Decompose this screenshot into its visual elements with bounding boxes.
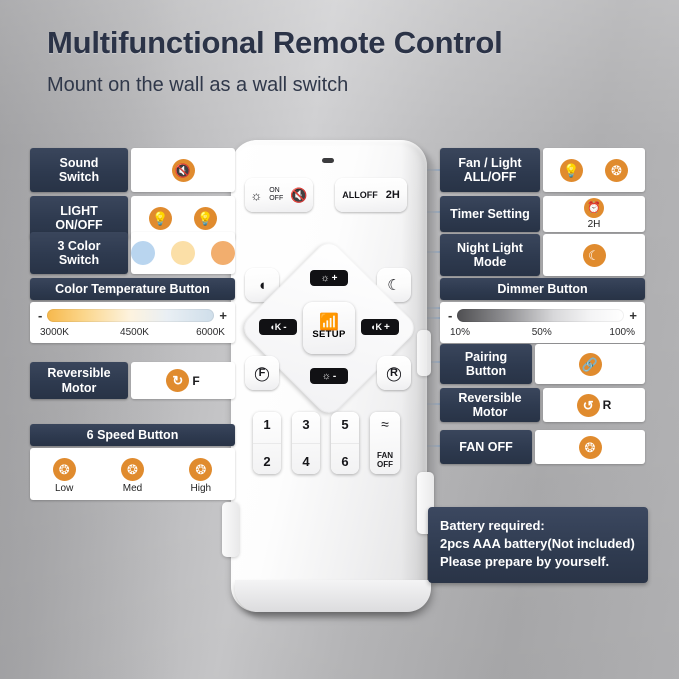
fan-off-icon-box: ❂ xyxy=(535,430,645,464)
speed-4-label: 4 xyxy=(302,454,309,469)
minus-label: - xyxy=(333,371,336,382)
fan-high-icon: ❂ xyxy=(189,458,212,481)
motor-forward-group: ↻ F xyxy=(166,369,199,392)
label-line-1: Fan / Light xyxy=(458,156,521,170)
tick-4500k: 4500K xyxy=(120,327,149,338)
dimmer-gradient-bar[interactable] xyxy=(457,309,624,322)
rocker-divider xyxy=(253,443,281,444)
callout-reversible-motor-forward: Reversible Motor ↻ F xyxy=(30,362,235,399)
remote-key-colortemp-down[interactable]: ◖K - xyxy=(259,319,297,335)
label-line-1: Pairing xyxy=(465,350,507,364)
page-heading: Multifunctional Remote Control Mount on … xyxy=(47,25,647,97)
color-swatch-neutral xyxy=(171,241,195,265)
remote-key-setup-pairing[interactable]: 📶 SETUP xyxy=(303,302,355,354)
reversible-motor-reverse-icon-box: ↺ R xyxy=(543,388,645,422)
tick-6000k: 6000K xyxy=(196,327,225,338)
tick-50-percent: 50% xyxy=(532,327,552,338)
speed-step-med[interactable]: ❂ Med xyxy=(121,458,144,494)
fan-light-all-off-label: Fan / Light ALL/OFF xyxy=(440,148,540,192)
label-line-1: LIGHT xyxy=(60,204,98,218)
on-label: ON xyxy=(269,187,280,194)
battery-note-line-2: 2pcs AAA battery(Not included) xyxy=(440,535,636,553)
remote-key-speed-5-6[interactable]: 5 6 xyxy=(331,412,359,474)
label-line-1: Sound xyxy=(60,156,99,170)
color-swatch-warm xyxy=(211,241,235,265)
tick-3000k: 3000K xyxy=(40,327,69,338)
callout-timer-setting: Timer Setting ⏰ 2H xyxy=(440,196,645,232)
reversible-motor-reverse-label: Reversible Motor xyxy=(440,388,540,422)
speed-step-high[interactable]: ❂ High xyxy=(189,458,212,494)
setup-label: SETUP xyxy=(312,329,345,340)
timer-2h-label: 2H xyxy=(386,189,400,201)
remote-key-brightness-down[interactable]: ☼ - xyxy=(310,368,348,384)
motor-reverse-icon: ↺ xyxy=(577,394,600,417)
kelvin-icon: ◖ xyxy=(257,277,266,294)
minus-sign: - xyxy=(448,308,452,323)
color-temperature-ticks: 3000K 4500K 6000K xyxy=(30,326,235,343)
color-temperature-slider[interactable]: - + xyxy=(30,302,235,326)
fan-off-label: FAN OFF xyxy=(440,430,532,464)
reversible-motor-forward-icon-box: ↻ F xyxy=(131,362,235,399)
wifi-icon: 📶 xyxy=(319,316,339,329)
speed-icon-row: ❂ Low ❂ Med ❂ High xyxy=(30,453,235,496)
timer-setting-value: ⏰ 2H xyxy=(543,196,645,232)
label-line-1: Night Light xyxy=(457,241,523,255)
night-light-mode-icon-box: ☾ xyxy=(543,234,645,276)
label-line-2: Mode xyxy=(474,255,507,269)
six-speed-title: 6 Speed Button xyxy=(30,424,235,446)
sound-switch-icons: 🔇 xyxy=(131,148,235,192)
callout-6-speed-button: 6 Speed Button ❂ Low ❂ Med ❂ High xyxy=(30,424,235,500)
sun-icon: ☼ xyxy=(322,371,331,382)
plus-label: + xyxy=(332,273,338,284)
remote-control-device: ☼ ON OFF 🔇 ALLOFF 2H ◖ ☾ ☼ + ☼ - ◖K - ◖K… xyxy=(231,140,437,620)
three-color-switch-label: 3 Color Switch xyxy=(30,232,128,274)
plus-sign: + xyxy=(629,308,637,323)
color-swatch-cool xyxy=(131,241,155,265)
dimmer-scale: - + 10% 50% 100% xyxy=(440,302,645,343)
label-line-2: Switch xyxy=(59,253,99,267)
reverse-letter: R xyxy=(603,398,612,412)
sun-icon: ☼ xyxy=(250,188,262,203)
dimmer-slider[interactable]: - + xyxy=(440,302,645,326)
plus-sign: + xyxy=(219,308,227,323)
callout-pairing-button: Pairing Button 🔗 xyxy=(440,344,645,384)
remote-key-colortemp-up[interactable]: ◖K + xyxy=(361,319,399,335)
kelvin-icon: ◖K xyxy=(370,322,382,332)
link-icon: 🔗 xyxy=(579,353,602,376)
battery-note-line-1: Battery required: xyxy=(440,517,636,535)
label-line-2: ON/OFF xyxy=(55,218,102,232)
speed-low-caption: Low xyxy=(55,483,73,494)
speed-5-label: 5 xyxy=(341,417,348,432)
fan-off-icon: ❂ xyxy=(605,159,628,182)
dimmer-title: Dimmer Button xyxy=(440,278,645,300)
remote-base-lip xyxy=(235,580,431,612)
callout-color-temperature: Color Temperature Button - + 3000K 4500K… xyxy=(30,278,235,343)
kelvin-icon: ◖K xyxy=(269,322,281,332)
rocker-divider xyxy=(292,443,320,444)
reverse-letter: R xyxy=(390,367,398,379)
off-label: OFF xyxy=(269,195,283,202)
remote-key-alloff-timer[interactable]: ALLOFF 2H xyxy=(335,178,407,212)
off-label: OFF xyxy=(377,460,393,469)
color-temperature-gradient-bar[interactable] xyxy=(47,309,214,322)
ir-emitter-icon xyxy=(322,158,334,163)
remote-side-tab-left xyxy=(222,502,239,557)
three-color-swatches xyxy=(131,232,235,274)
speed-step-low[interactable]: ❂ Low xyxy=(53,458,76,494)
callout-night-light-mode: Night Light Mode ☾ xyxy=(440,234,645,276)
callout-reversible-motor-reverse: Reversible Motor ↺ R xyxy=(440,388,645,422)
speed-1-label: 1 xyxy=(263,417,270,432)
moon-star-icon: ☾ xyxy=(387,276,400,294)
sound-off-icon: 🔇 xyxy=(172,159,195,182)
night-light-mode-label: Night Light Mode xyxy=(440,234,540,276)
fan-light-all-off-icons: 💡 ❂ xyxy=(543,148,645,192)
plus-label: + xyxy=(384,322,390,333)
page-subtitle: Mount on the wall as a wall switch xyxy=(47,74,647,97)
speed-high-caption: High xyxy=(191,483,212,494)
speed-3-label: 3 xyxy=(302,417,309,432)
label-line-2: Button xyxy=(466,364,506,378)
fan-med-icon: ❂ xyxy=(121,458,144,481)
remote-key-speed-3-4[interactable]: 3 4 xyxy=(292,412,320,474)
rocker-divider xyxy=(331,443,359,444)
fan-off-label: FAN OFF xyxy=(377,451,393,469)
label-line-2: Switch xyxy=(59,170,99,184)
minus-label: - xyxy=(283,322,286,333)
battery-requirement-note: Battery required: 2pcs AAA battery(Not i… xyxy=(428,507,648,583)
fan-label: FAN xyxy=(377,451,393,460)
callout-fan-light-all-off: Fan / Light ALL/OFF 💡 ❂ xyxy=(440,148,645,192)
remote-key-fan-off[interactable]: ≈ FAN OFF xyxy=(370,412,400,474)
fan-low-icon: ❂ xyxy=(53,458,76,481)
speed-med-caption: Med xyxy=(123,483,142,494)
airflow-icon: ≈ xyxy=(381,418,389,430)
callout-3-color-switch: 3 Color Switch xyxy=(30,232,235,274)
all-off-label: ALLOFF xyxy=(342,190,378,200)
reversible-motor-forward-label: Reversible Motor xyxy=(30,362,128,399)
fan-off-icon: ❂ xyxy=(579,436,602,459)
remote-key-light-onoff-mute[interactable]: ☼ ON OFF 🔇 xyxy=(245,178,313,212)
callout-fan-off: FAN OFF ❂ xyxy=(440,430,645,464)
light-off-icon: 💡 xyxy=(194,207,217,230)
remote-side-tab-right-upper xyxy=(417,330,431,376)
color-temperature-scale: - + 3000K 4500K 6000K xyxy=(30,302,235,343)
speed-2-label: 2 xyxy=(263,454,270,469)
on-off-label: ON OFF xyxy=(269,187,283,203)
remote-key-motor-reverse[interactable]: ◯ R xyxy=(377,356,411,390)
mute-icon: 🔇 xyxy=(290,187,307,204)
timer-2h-label: 2H xyxy=(588,219,601,230)
forward-letter: F xyxy=(259,367,266,379)
callout-dimmer-button: Dimmer Button - + 10% 50% 100% xyxy=(440,278,645,343)
motor-forward-icon: ↻ xyxy=(166,369,189,392)
minus-sign: - xyxy=(38,308,42,323)
remote-key-brightness-up[interactable]: ☼ + xyxy=(310,270,348,286)
remote-key-speed-1-2[interactable]: 1 2 xyxy=(253,412,281,474)
pairing-button-icon-box: 🔗 xyxy=(535,344,645,384)
sound-switch-label: Sound Switch xyxy=(30,148,128,192)
dimmer-ticks: 10% 50% 100% xyxy=(440,326,645,343)
six-speed-values: ❂ Low ❂ Med ❂ High xyxy=(30,448,235,500)
speed-6-label: 6 xyxy=(341,454,348,469)
sun-icon: ☼ xyxy=(320,273,329,284)
light-on-icon: 💡 xyxy=(149,207,172,230)
label-line-1: 3 Color xyxy=(57,239,100,253)
battery-note-line-3: Please prepare by yourself. xyxy=(440,553,636,571)
moon-icon: ☾ xyxy=(583,244,606,267)
callout-sound-switch: Sound Switch 🔇 xyxy=(30,148,235,192)
motor-reverse-group: ↺ R xyxy=(577,394,612,417)
pairing-button-label: Pairing Button xyxy=(440,344,532,384)
forward-letter: F xyxy=(192,374,199,388)
remote-key-motor-forward[interactable]: ◯ F xyxy=(245,356,279,390)
alarm-clock-icon: ⏰ xyxy=(584,198,604,218)
timer-setting-label: Timer Setting xyxy=(440,196,540,232)
color-temperature-title: Color Temperature Button xyxy=(30,278,235,300)
tick-100-percent: 100% xyxy=(609,327,635,338)
tick-10-percent: 10% xyxy=(450,327,470,338)
page-title: Multifunctional Remote Control xyxy=(47,25,647,61)
light-bulb-icon: 💡 xyxy=(560,159,583,182)
label-line-2: ALL/OFF xyxy=(464,170,517,184)
